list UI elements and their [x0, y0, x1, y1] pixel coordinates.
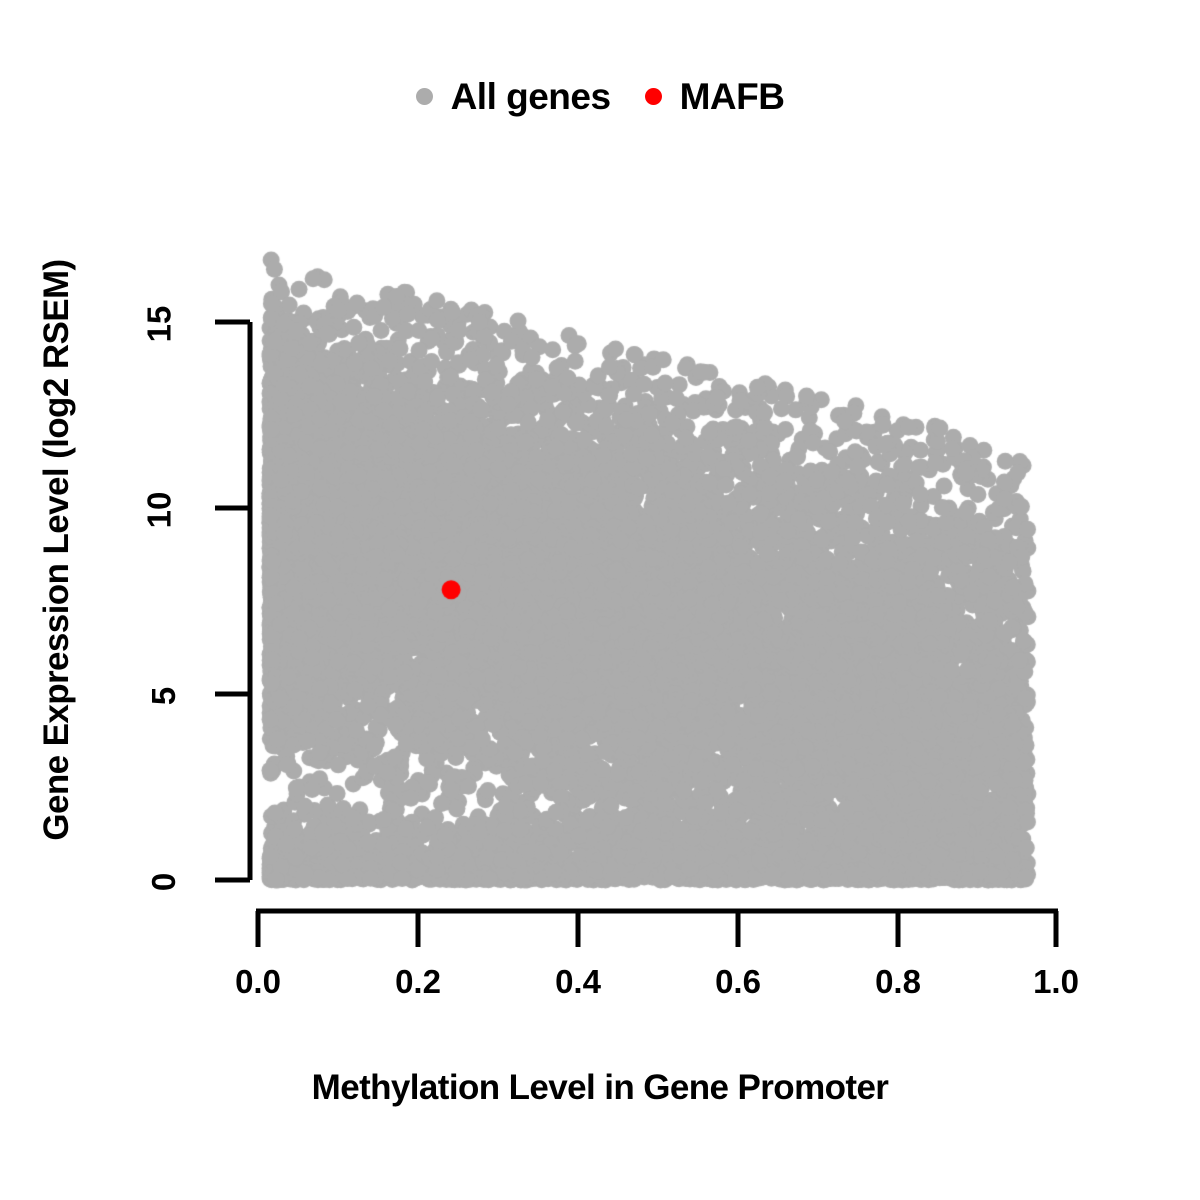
axes	[0, 0, 1200, 1200]
x-tick-label-0.2: 0.2	[395, 963, 441, 1001]
x-tick-label-0.8: 0.8	[875, 963, 921, 1001]
x-tick-label-0.4: 0.4	[555, 963, 601, 1001]
y-axis-label: Gene Expression Level (log2 RSEM)	[37, 200, 77, 900]
x-axis-label: Methylation Level in Gene Promoter	[0, 1068, 1200, 1108]
x-tick-label-0.0: 0.0	[235, 963, 281, 1001]
x-tick-label-0.6: 0.6	[715, 963, 761, 1001]
y-tick-label-15: 15	[140, 306, 178, 343]
scatter-plot-figure: All genes MAFB 15 10 5 0 0.0 0.2 0.4 0.6…	[0, 0, 1200, 1200]
y-tick-label-5: 5	[145, 687, 183, 705]
y-tick-label-10: 10	[140, 492, 178, 529]
y-tick-label-0: 0	[145, 873, 183, 891]
x-tick-label-1.0: 1.0	[1033, 963, 1079, 1001]
